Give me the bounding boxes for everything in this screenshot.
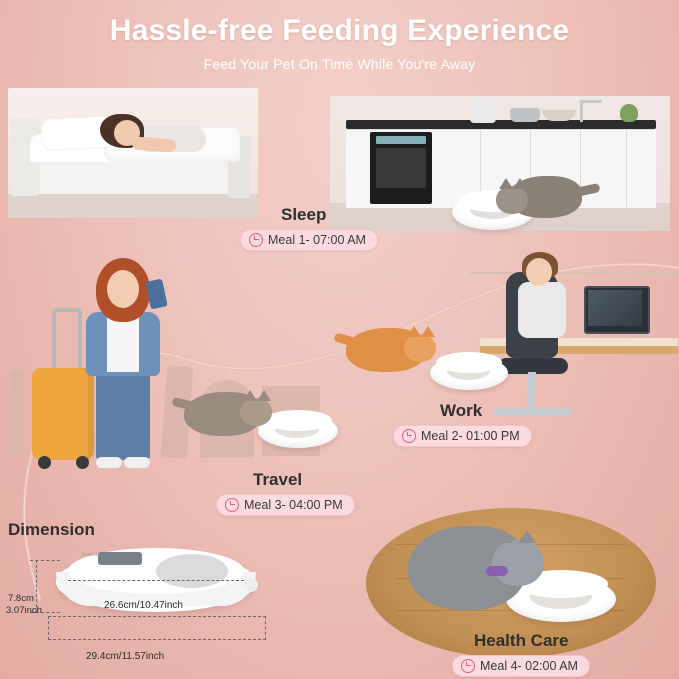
- page-title: Hassle-free Feeding Experience: [0, 14, 679, 48]
- suitcase-handle: [52, 308, 82, 374]
- clock-icon: [402, 429, 416, 443]
- clock-icon: [461, 659, 475, 673]
- cat-health-collar: [486, 566, 508, 576]
- meal-text-sleep: Meal 1- 07:00 AM: [268, 233, 366, 247]
- cat-health-ear-right: [518, 530, 536, 543]
- poster-root: Hassle-free Feeding Experience Feed Your…: [0, 0, 679, 679]
- meal-pill-sleep: Meal 1- 07:00 AM: [240, 229, 378, 251]
- meal-pill-travel: Meal 3- 04:00 PM: [216, 494, 355, 516]
- dimension-height-cm: 7.8cm: [8, 594, 34, 605]
- traveler-shoe-right: [124, 457, 150, 468]
- office-chair-base: [494, 408, 572, 416]
- product-brand-logo: huonuo: [82, 552, 101, 558]
- scene-label-travel: Travel: [253, 470, 302, 490]
- meal-pill-work: Meal 2- 01:00 PM: [393, 425, 532, 447]
- cat-kitchen-ear-right: [513, 178, 527, 189]
- scene-dimension: huonuo: [6, 520, 316, 670]
- scene-sleep: [8, 88, 258, 218]
- office-wall-trim: [470, 272, 678, 274]
- outer-width-guide: [48, 616, 266, 640]
- cabinet-seam: [626, 129, 627, 207]
- traveler-phone: [145, 279, 167, 310]
- dimension-height-inch: 3.07inch: [6, 606, 42, 617]
- dimension-outer-diameter: 29.4cm/11.57inch: [86, 651, 164, 663]
- suitcase: [32, 368, 94, 460]
- traveler-face: [107, 270, 139, 308]
- cooking-pot: [510, 108, 540, 122]
- meal-text-work: Meal 2- 01:00 PM: [421, 429, 520, 443]
- meal-pill-health: Meal 4- 02:00 AM: [452, 655, 590, 677]
- cat-office-ear-right: [421, 326, 435, 337]
- office-worker-head: [526, 258, 552, 286]
- scene-label-health: Health Care: [474, 631, 568, 651]
- page-subtitle: Feed Your Pet On Time While You're Away: [0, 56, 679, 72]
- cat-kitchen-head: [496, 186, 528, 214]
- clock-icon: [249, 233, 263, 247]
- meal-text-health: Meal 4- 02:00 AM: [480, 659, 578, 673]
- scene-label-work: Work: [440, 401, 482, 421]
- product-battery-knob: [244, 578, 258, 592]
- cat-travel-head: [240, 398, 272, 426]
- office-chair-post: [528, 372, 536, 412]
- oven-door-glass: [376, 148, 426, 188]
- potted-plant: [620, 104, 638, 122]
- cat-health-head: [492, 540, 544, 586]
- office-worker-body: [518, 282, 566, 338]
- feeder-travel-lid: [264, 410, 332, 431]
- traveler-jeans: [96, 372, 150, 460]
- oven-control-panel: [376, 136, 426, 144]
- cat-travel-ear-right: [257, 390, 271, 401]
- monument-statue-of-liberty: [10, 370, 24, 456]
- product-open-compartment: [156, 554, 228, 588]
- kettle: [470, 98, 496, 123]
- cat-health-ear-left: [494, 530, 512, 543]
- kitchen-countertop: [346, 120, 656, 129]
- feeder-office-lid: [436, 352, 502, 373]
- suitcase-wheel-right: [76, 456, 89, 469]
- clock-icon: [225, 498, 239, 512]
- cat-travel-ear-left: [243, 390, 257, 401]
- cat-office-head: [404, 334, 436, 362]
- scene-label-sleep: Sleep: [281, 205, 326, 225]
- dimension-inner-diameter: 26.6cm/10.47inch: [104, 600, 183, 612]
- product-control-panel: [98, 552, 142, 565]
- height-guide-top: [30, 560, 60, 561]
- traveler-shoe-left: [96, 457, 122, 468]
- meal-text-travel: Meal 3- 04:00 PM: [244, 498, 343, 512]
- cat-kitchen-ear-left: [499, 178, 513, 189]
- suitcase-wheel-left: [38, 456, 51, 469]
- faucet-stem: [580, 100, 583, 122]
- inner-width-guide: [68, 580, 244, 581]
- traveler-shirt: [107, 316, 139, 372]
- office-monitor-screen: [588, 290, 642, 326]
- cat-office-ear-left: [407, 326, 421, 337]
- bedroom-floor: [8, 194, 258, 218]
- faucet-spout: [580, 100, 602, 103]
